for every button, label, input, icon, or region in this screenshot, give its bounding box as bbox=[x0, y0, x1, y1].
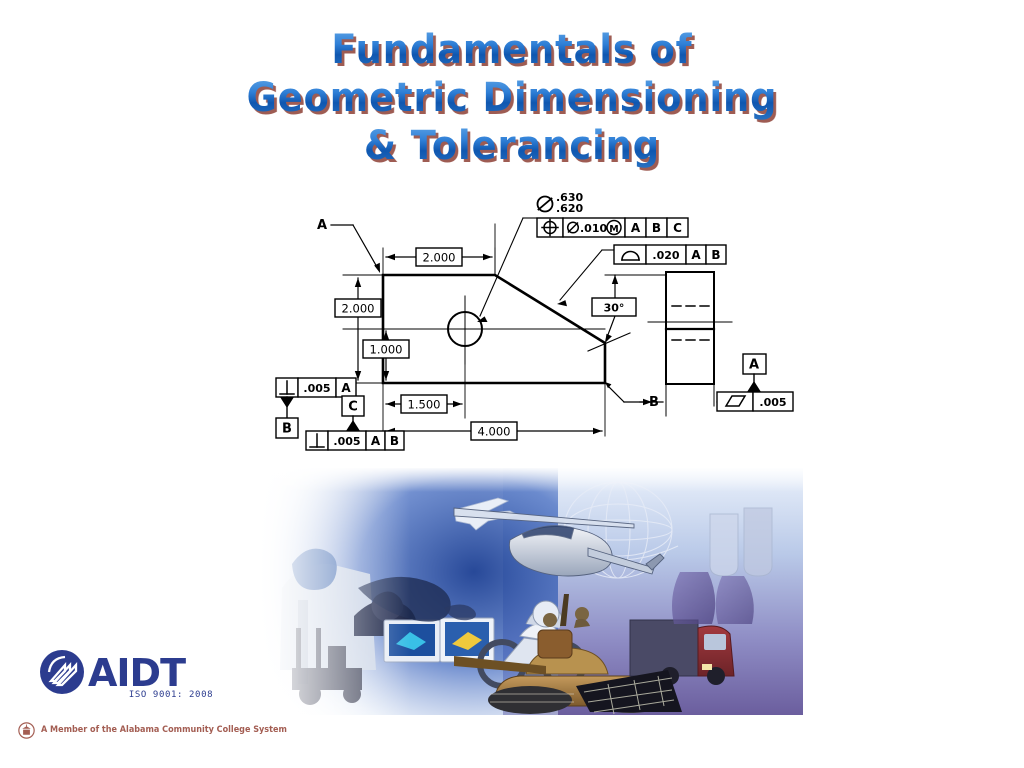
fcf-perp-left-datum-a: A bbox=[341, 381, 351, 395]
leader-label-b bbox=[605, 382, 646, 402]
dimension-value-angle-30: 30° bbox=[604, 302, 625, 315]
engineering-drawing: 2.000 2.000 1.000 bbox=[258, 188, 803, 453]
fcf-position-datum-a: A bbox=[631, 221, 641, 235]
hole-centerlines bbox=[432, 296, 498, 364]
dimension-value-1500: 1.500 bbox=[408, 398, 441, 412]
fcf-perp-bottom-tolerance: .005 bbox=[333, 435, 360, 448]
dimension-value-4000: 4.000 bbox=[478, 425, 511, 439]
slide-canvas: Fundamentals of Geometric Dimensioning &… bbox=[0, 0, 1024, 768]
aidt-emblem-icon bbox=[40, 650, 84, 694]
fcf-parallelogram-tolerance: .005 bbox=[759, 396, 786, 409]
fcf-profile-datum-a: A bbox=[691, 248, 701, 262]
hole-limit-lower: .620 bbox=[556, 202, 583, 215]
side-view bbox=[666, 272, 714, 384]
hole-diameter-callout bbox=[538, 197, 553, 212]
member-tagline-text: A Member of the Alabama Community Colleg… bbox=[41, 725, 287, 735]
alabama-seal-icon bbox=[18, 722, 35, 739]
fcf-profile-tolerance: .020 bbox=[652, 249, 679, 262]
title-line-1: Fundamentals of bbox=[41, 26, 983, 74]
fcf-profile-datum-b: B bbox=[711, 248, 720, 262]
title-line-3: & Tolerancing bbox=[41, 122, 983, 170]
dimension-value-1000: 1.000 bbox=[370, 343, 403, 357]
aidt-certification: ISO 9001: 2008 bbox=[129, 690, 213, 700]
leader-label-a-text: A bbox=[317, 218, 327, 233]
aidt-logo: AIDT ISO 9001: 2008 bbox=[38, 648, 253, 704]
industrial-photo-collage bbox=[258, 468, 803, 715]
datum-feature-a-right-label: A bbox=[749, 358, 759, 373]
title-line-2: Geometric Dimensioning bbox=[41, 74, 983, 122]
aidt-wordmark: AIDT bbox=[88, 651, 186, 695]
fcf-position-modifier: M bbox=[609, 224, 618, 235]
datum-feature-c-label: C bbox=[348, 400, 358, 415]
page-title: Fundamentals of Geometric Dimensioning &… bbox=[0, 26, 1024, 170]
fcf-perp-bottom-datum-b: B bbox=[390, 434, 399, 448]
fcf-perp-left-tolerance: .005 bbox=[303, 382, 330, 395]
fcf-perp-bottom-datum-a: A bbox=[371, 434, 381, 448]
dimension-value-2000-left: 2.000 bbox=[342, 302, 375, 316]
fcf-position-datum-b: B bbox=[652, 221, 661, 235]
fcf-position-datum-c: C bbox=[673, 221, 682, 235]
member-tagline: A Member of the Alabama Community Colleg… bbox=[18, 718, 258, 742]
leader-label-a bbox=[331, 225, 380, 273]
dimension-value-2000-top: 2.000 bbox=[423, 251, 456, 265]
fcf-position-tolerance: .010 bbox=[580, 222, 607, 235]
datum-feature-b-label: B bbox=[282, 422, 292, 437]
